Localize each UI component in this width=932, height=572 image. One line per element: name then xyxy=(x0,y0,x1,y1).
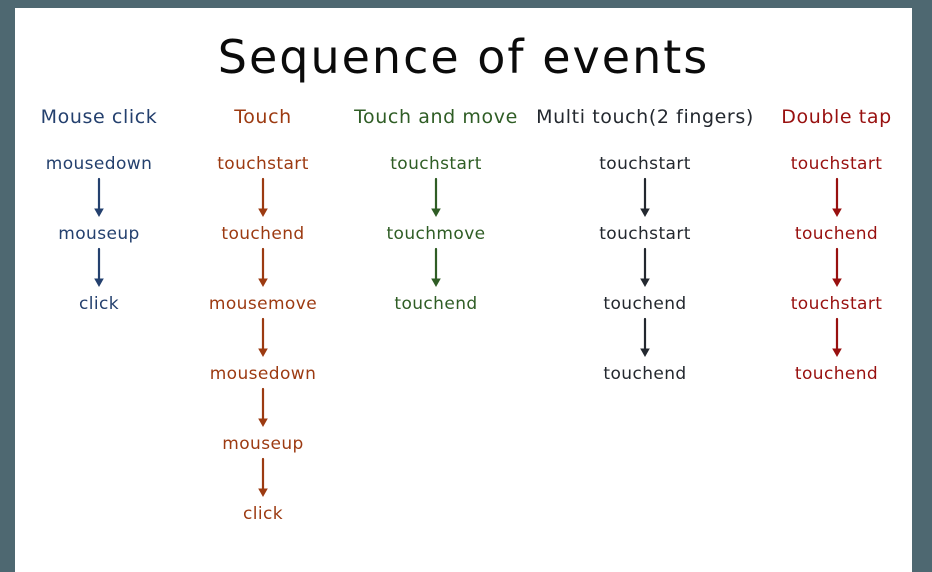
down-arrow-icon xyxy=(637,243,653,295)
event-label: touchstart xyxy=(599,155,691,173)
event-chain: mousedownmouseupclick xyxy=(46,155,153,313)
down-arrow-icon xyxy=(91,173,107,225)
event-label: touchend xyxy=(795,225,878,243)
event-label: mouseup xyxy=(58,225,139,243)
sequence-column: Mouse clickmousedownmouseupclick xyxy=(15,108,183,313)
page-title: Sequence of events xyxy=(15,30,912,84)
down-arrow-icon xyxy=(255,243,271,295)
event-label: touchstart xyxy=(599,225,691,243)
down-arrow-icon xyxy=(428,173,444,225)
event-label: touchend xyxy=(795,365,878,383)
sequence-column: Touch and movetouchstarttouchmovetouchen… xyxy=(343,108,529,313)
event-label: touchend xyxy=(603,365,686,383)
event-label: mousedown xyxy=(210,365,317,383)
down-arrow-icon xyxy=(829,313,845,365)
event-label: touchmove xyxy=(386,225,485,243)
down-arrow-icon xyxy=(829,243,845,295)
event-label: touchstart xyxy=(390,155,482,173)
event-label: mouseup xyxy=(222,435,303,453)
event-label: touchend xyxy=(603,295,686,313)
down-arrow-icon xyxy=(255,453,271,505)
down-arrow-icon xyxy=(255,173,271,225)
event-label: touchstart xyxy=(217,155,309,173)
sequence-column: Touchtouchstarttouchendmousemovemousedow… xyxy=(183,108,343,523)
sequence-columns: Mouse clickmousedownmouseupclickTouchtou… xyxy=(15,108,912,568)
down-arrow-icon xyxy=(428,243,444,295)
sequence-column: Multi touch(2 fingers)touchstarttouchsta… xyxy=(529,108,761,383)
down-arrow-icon xyxy=(255,313,271,365)
down-arrow-icon xyxy=(829,173,845,225)
diagram-canvas: Sequence of events Mouse clickmousedownm… xyxy=(15,8,912,572)
event-label: mousedown xyxy=(46,155,153,173)
column-header: Touch xyxy=(234,108,292,127)
column-header: Multi touch(2 fingers) xyxy=(536,108,754,127)
event-label: touchend xyxy=(221,225,304,243)
event-label: click xyxy=(243,505,283,523)
event-label: touchstart xyxy=(791,295,883,313)
column-header: Touch and move xyxy=(354,108,518,127)
down-arrow-icon xyxy=(255,383,271,435)
sequence-column: Double taptouchstarttouchendtouchstartto… xyxy=(761,108,912,383)
down-arrow-icon xyxy=(91,243,107,295)
event-label: mousemove xyxy=(209,295,317,313)
event-chain: touchstarttouchmovetouchend xyxy=(386,155,485,313)
diagram-frame: Sequence of events Mouse clickmousedownm… xyxy=(0,0,932,572)
event-chain: touchstarttouchstarttouchendtouchend xyxy=(599,155,691,383)
column-header: Double tap xyxy=(781,108,892,127)
down-arrow-icon xyxy=(637,173,653,225)
event-chain: touchstarttouchendtouchstarttouchend xyxy=(791,155,883,383)
event-label: touchstart xyxy=(791,155,883,173)
event-label: touchend xyxy=(394,295,477,313)
column-header: Mouse click xyxy=(41,108,158,127)
event-chain: touchstarttouchendmousemovemousedownmous… xyxy=(209,155,317,523)
down-arrow-icon xyxy=(637,313,653,365)
event-label: click xyxy=(79,295,119,313)
